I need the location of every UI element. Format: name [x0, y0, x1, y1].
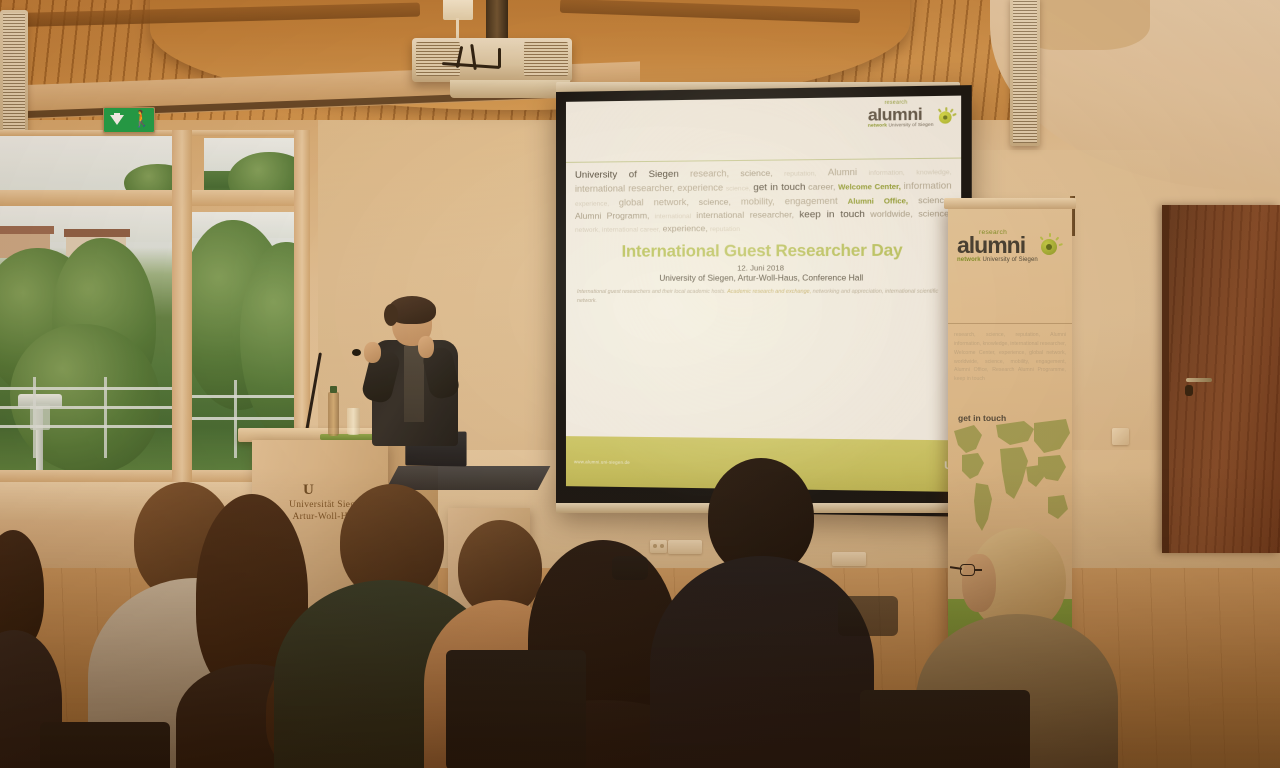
wordcloud-word: science, — [918, 208, 951, 219]
water-bottle — [328, 392, 339, 436]
distant-roof — [64, 229, 130, 237]
banner-top-cap — [944, 198, 1076, 209]
wordcloud-word: science, — [740, 168, 772, 178]
wordcloud-word: international researcher, — [696, 209, 794, 220]
slide-word-cloud: University of Siegen research, science, … — [566, 159, 961, 240]
exit-arrow-panel — [104, 108, 129, 132]
wordcloud-word: engagement — [785, 195, 838, 206]
door-lock[interactable] — [1185, 385, 1193, 396]
banner-logo-university-text: University of Siegen — [983, 257, 1038, 263]
projection-screen: research alumni network University of Si… — [556, 85, 972, 517]
outdoor-view — [0, 204, 172, 474]
speaker-grille — [3, 13, 25, 147]
slide-footer-url: www.alumni.uni-siegen.de — [574, 459, 630, 465]
railing-bar — [0, 425, 172, 428]
railing-post — [234, 380, 237, 459]
slide-date: 12. Juni 2018 — [575, 263, 952, 273]
railing-bar — [190, 417, 300, 420]
banner-logo-ray — [1055, 237, 1059, 241]
shoulders-suit — [650, 556, 874, 768]
slide-title: International Guest Researcher Day — [575, 241, 952, 262]
banner-divider — [948, 323, 1072, 324]
wordcloud-word: Alumni Office, — [848, 196, 908, 206]
presentation-slide: research alumni network University of Si… — [566, 96, 961, 492]
wordcloud-word: knowledge, — [916, 169, 951, 177]
logo-network-text: network — [868, 122, 887, 127]
wordcloud-word: career, — [808, 181, 835, 191]
wordcloud-word: experience, — [663, 223, 708, 233]
presenter-at-lectern — [362, 296, 468, 446]
chair[interactable] — [446, 650, 586, 768]
banner-get-in-touch-text: get in touch — [958, 413, 1006, 423]
projector-vent-left — [416, 42, 460, 76]
ceiling-projector — [412, 38, 572, 82]
wordcloud-word: science, — [726, 185, 751, 192]
presenter-hair-side — [384, 304, 398, 326]
railing-bar — [0, 406, 172, 409]
outdoor-view — [0, 134, 190, 190]
wordcloud-word: international — [655, 213, 691, 220]
logo-ray — [945, 107, 947, 111]
projector-mounting-plate — [450, 80, 570, 98]
banner-dandelion-sun-mark-icon — [1038, 235, 1061, 258]
wordcloud-word: experience — [677, 182, 723, 193]
wordcloud-word: network, — [575, 227, 600, 234]
wordcloud-word: worldwide, — [870, 208, 913, 219]
wall-speaker-right — [1010, 0, 1040, 146]
wordcloud-word: international researcher, — [575, 183, 675, 194]
door-lever-handle[interactable] — [1186, 378, 1212, 382]
attendee-suit — [656, 458, 866, 768]
chair[interactable] — [40, 722, 170, 768]
banner-logo-ray — [1040, 236, 1044, 240]
wooden-door[interactable] — [1162, 205, 1280, 553]
chair[interactable] — [612, 556, 648, 580]
logo-sun-dot — [939, 111, 952, 124]
slide-header: research alumni network University of Si… — [566, 96, 961, 164]
water-bottle-cap — [330, 386, 337, 393]
chair[interactable] — [860, 690, 1030, 768]
window-pane-left — [0, 204, 172, 474]
slide-description-line1: International guest researchers and thei… — [577, 289, 726, 295]
dandelion-sun-mark-icon — [937, 108, 955, 126]
railing-bar — [0, 387, 172, 390]
wordcloud-word: reputation — [710, 226, 740, 233]
wordcloud-word: get in touch — [753, 182, 805, 194]
banner-sun-dot — [1041, 239, 1057, 255]
wordcloud-word: international career, — [602, 227, 660, 234]
wordcloud-word: Alumni — [828, 167, 857, 178]
emergency-exit-sign: 🚶 — [103, 107, 155, 133]
glasses-lens-left — [960, 564, 975, 576]
window-mullion-vertical — [172, 130, 192, 484]
window-transom-left — [0, 134, 190, 190]
wordcloud-word: Welcome Center, — [838, 182, 901, 192]
speaker-grille — [1013, 0, 1037, 143]
railing-post — [104, 377, 107, 458]
projection-screen-surface: research alumni network University of Si… — [566, 96, 961, 492]
wordcloud-word: mobility, — [741, 196, 775, 206]
outdoor-view — [204, 138, 296, 198]
acoustic-ceiling-sail-secondary — [1030, 0, 1150, 50]
slide-title-block: International Guest Researcher Day 12. J… — [566, 241, 961, 283]
glasses-bridge — [974, 569, 982, 571]
wordcloud-word: University of Siegen — [575, 169, 679, 181]
presenter-shirt — [404, 346, 424, 422]
drinking-glass — [347, 408, 360, 435]
logo-ray — [938, 108, 942, 112]
pendant-light — [443, 0, 473, 20]
down-arrow-icon — [110, 115, 124, 125]
wordcloud-word: Alumni Programm, — [575, 210, 650, 221]
logo-wordmark: research alumni network University of Si… — [868, 100, 934, 128]
window-transom-right — [204, 138, 296, 198]
banner-research-alumni-logo: research alumni network University of Si… — [957, 229, 1063, 263]
wordcloud-word: information — [904, 180, 952, 191]
wordcloud-word: research, — [690, 169, 729, 180]
banner-word-cloud: research, science, reputation, Alumni in… — [954, 331, 1066, 384]
conference-hall-photo: 🚶 research alumni network University of … — [0, 0, 1280, 768]
wordcloud-word: global network, — [619, 197, 689, 208]
railing-bar — [190, 395, 300, 398]
slide-description-highlight: Academic research and exchange, — [727, 289, 811, 295]
running-person-icon: 🚶 — [132, 112, 152, 128]
wordcloud-word: science, — [699, 196, 731, 206]
projector-vent-right — [524, 42, 568, 76]
logo-ray — [950, 108, 954, 112]
gooseneck-microphone-head — [352, 349, 361, 356]
presenter-right-hand — [418, 336, 434, 358]
wordcloud-word: reputation, — [784, 171, 816, 178]
window-mullion-horizontal — [0, 190, 304, 206]
presenter-left-hand — [364, 342, 381, 363]
ear-and-face — [962, 554, 996, 612]
slide-description: International guest researchers and thei… — [566, 288, 961, 305]
exit-pictogram-panel: 🚶 — [129, 108, 154, 132]
logo-ray — [952, 112, 957, 115]
banner-logo-network-text: network — [957, 257, 981, 263]
research-alumni-logo: research alumni network University of Si… — [868, 100, 955, 129]
wordcloud-word: experience, — [575, 200, 609, 207]
chair[interactable] — [838, 596, 898, 636]
distant-roof — [0, 226, 54, 234]
slide-location: University of Siegen, Artur-Woll-Haus, C… — [575, 273, 952, 283]
balcony-railing — [0, 377, 172, 458]
banner-logo-ray — [1049, 233, 1051, 237]
logo-university-text: University of Siegen — [888, 122, 933, 128]
wordcloud-word: information, — [869, 170, 905, 178]
wordcloud-word: keep in touch — [799, 209, 865, 221]
logo-subtitle: network University of Siegen — [868, 123, 934, 129]
glasses-temple — [950, 566, 962, 569]
wall-speaker-left — [0, 10, 28, 150]
wall-light-switch[interactable] — [1112, 428, 1129, 445]
railing-post — [33, 377, 36, 458]
